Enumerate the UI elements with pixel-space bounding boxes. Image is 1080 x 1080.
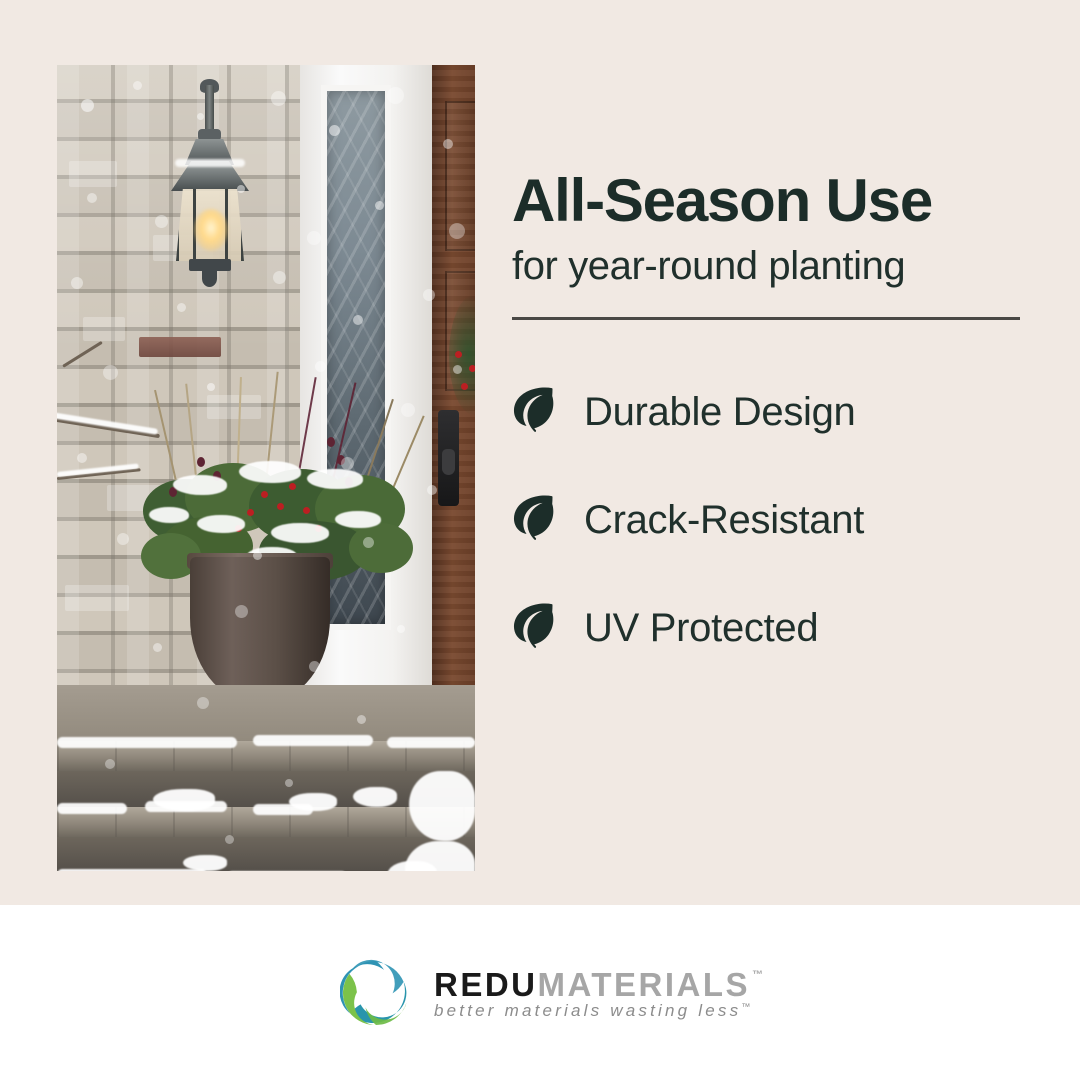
lantern-bulb-glow (194, 209, 228, 251)
snow-on-foliage (173, 475, 227, 495)
lantern-roof-snow (175, 159, 245, 167)
snow-on-step (253, 735, 373, 746)
snow-bokeh (329, 125, 340, 136)
snow-bokeh (309, 661, 320, 672)
snow-on-step (57, 869, 207, 871)
snow-on-foliage (335, 511, 381, 528)
snow-bokeh (197, 113, 204, 120)
burgundy-berry (327, 437, 335, 447)
logo-trademark: ™ (750, 968, 763, 981)
snow-bokeh (423, 289, 435, 301)
snow-bokeh (387, 87, 404, 104)
snow-bokeh (87, 193, 97, 203)
leaf-icon (512, 495, 554, 545)
lantern-foot-finial (202, 270, 217, 287)
snow-bokeh (271, 91, 286, 106)
list-item-label: UV Protected (584, 606, 818, 651)
snow-on-foliage (149, 507, 189, 523)
snow-bokeh (77, 453, 87, 463)
snow-bokeh (341, 457, 354, 470)
logo-text: REDU MATERIALS ™ better materials wastin… (434, 966, 763, 1021)
list-item: Crack-Resistant (512, 466, 1022, 574)
logo-tagline: better materials wasting less™ (434, 1001, 750, 1020)
brand-logo: REDU MATERIALS ™ better materials wastin… (340, 957, 763, 1029)
snow-bokeh (235, 605, 248, 618)
snow-bokeh (177, 303, 186, 312)
lantern-bracket (205, 85, 214, 135)
red-berry (303, 507, 310, 514)
snow-pile (353, 787, 397, 807)
snow-on-foliage (197, 515, 245, 533)
snow-bokeh (153, 643, 162, 652)
leaf-icon (512, 387, 554, 437)
snow-bokeh (453, 365, 462, 374)
porch-lantern-icon (167, 85, 253, 275)
page-title: All-Season Use (512, 170, 1022, 231)
snow-bokeh (117, 533, 129, 545)
snow-pile (289, 793, 337, 811)
snow-bokeh (225, 835, 234, 844)
content-column: All-Season Use for year-round planting D… (512, 170, 1022, 682)
snow-bokeh (105, 759, 115, 769)
brick-accent (139, 337, 221, 357)
logo-wordmark: REDU MATERIALS ™ (434, 968, 763, 1001)
snow-bokeh (427, 485, 437, 495)
logo-tagline-text: better materials wasting less (434, 1001, 741, 1020)
garland-berry (469, 365, 475, 372)
snow-bokeh (307, 231, 321, 245)
snow-on-foliage (307, 469, 363, 489)
snow-bokeh (357, 715, 366, 724)
snow-bokeh (449, 223, 465, 239)
red-berry (289, 483, 296, 490)
list-item: Durable Design (512, 358, 1022, 466)
snow-bokeh (253, 551, 262, 560)
snow-bokeh (207, 383, 215, 391)
door-handle-lever (442, 449, 455, 475)
snow-on-step (57, 737, 237, 748)
snow-bokeh (363, 537, 374, 548)
red-berry (277, 503, 284, 510)
stone-highlight (83, 317, 125, 341)
snow-pile (183, 855, 227, 871)
snow-pile (409, 771, 475, 841)
stone-highlight (65, 585, 129, 611)
divider (512, 317, 1020, 320)
garland-berry (461, 383, 468, 390)
snow-bokeh (197, 697, 209, 709)
snow-on-foliage (239, 461, 301, 483)
list-item-label: Crack-Resistant (584, 498, 864, 543)
logo-tagline-trademark: ™ (741, 1001, 750, 1011)
snow-bokeh (81, 99, 94, 112)
evergreen-foliage (349, 523, 413, 573)
promo-graphic-canvas: All-Season Use for year-round planting D… (0, 0, 1080, 1080)
footer: REDU MATERIALS ™ better materials wastin… (0, 905, 1080, 1080)
snow-bokeh (71, 277, 83, 289)
snow-pile (153, 789, 215, 811)
stone-highlight (69, 161, 117, 187)
list-item: UV Protected (512, 574, 1022, 682)
snow-bokeh (375, 201, 384, 210)
redu-swirl-logo-icon (340, 957, 412, 1029)
red-berry (247, 509, 254, 516)
snow-bokeh (353, 315, 363, 325)
snow-bokeh (443, 139, 453, 149)
snow-bokeh (401, 403, 415, 417)
feature-list: Durable Design Crack-Resistant UV Protec… (512, 358, 1022, 682)
snow-on-step (57, 803, 127, 814)
snow-on-foliage (271, 523, 329, 543)
snow-bokeh (103, 365, 118, 380)
logo-word-primary: REDU (434, 968, 538, 1001)
snow-bokeh (285, 779, 293, 787)
snow-bokeh (397, 625, 405, 633)
garland-berry (455, 351, 462, 358)
leaf-icon (512, 603, 554, 653)
snow-bokeh (273, 271, 286, 284)
snow-bokeh (133, 81, 142, 90)
list-item-label: Durable Design (584, 390, 856, 435)
page-subtitle: for year-round planting (512, 243, 1022, 289)
snow-bokeh (155, 215, 168, 228)
logo-word-secondary: MATERIALS (538, 968, 751, 1001)
winter-porch-planter-photo (57, 65, 475, 871)
photo-scene (57, 65, 475, 871)
burgundy-berry (197, 457, 205, 467)
snow-bokeh (315, 361, 326, 372)
red-berry (261, 491, 268, 498)
snow-on-step (387, 737, 475, 748)
snow-bokeh (237, 185, 245, 193)
